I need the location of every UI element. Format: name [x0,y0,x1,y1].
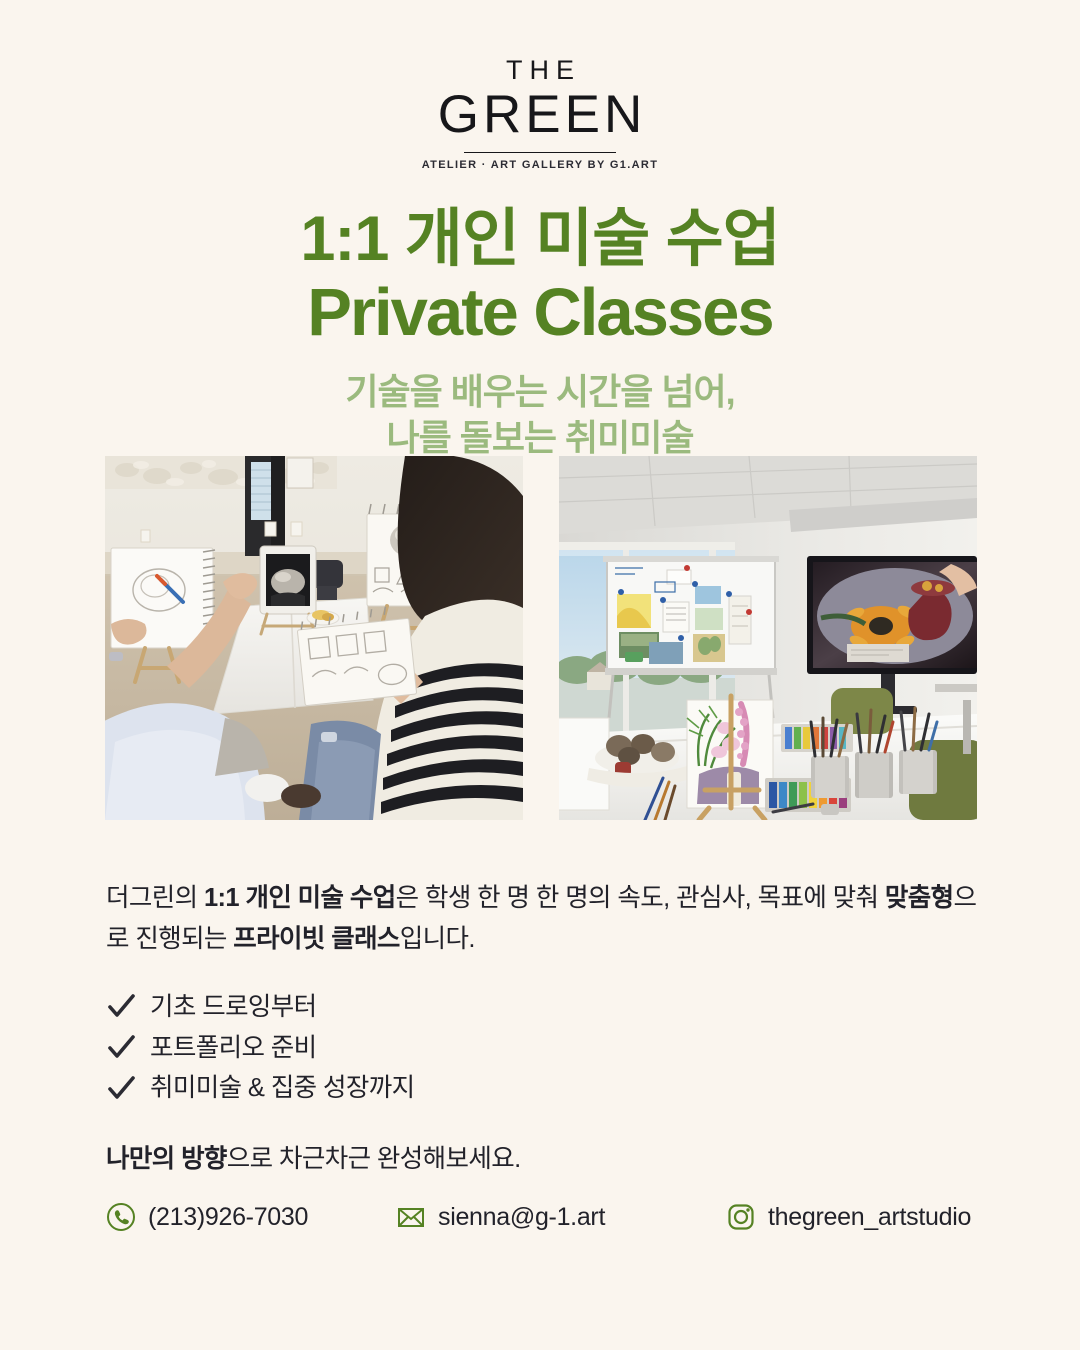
photo-gallery [105,456,977,820]
phone-icon [106,1202,136,1232]
headline-english: Private Classes [0,279,1080,347]
logo-line-green: GREEN [4,86,1080,144]
checklist-label: 포트폴리오 준비 [150,1033,317,1064]
logo-tagline: ATELIER · ART GALLERY BY G1.ART [0,159,1080,171]
contact-bar: (213)926-7030 sienna@g-1.art thegreen_ar… [106,1202,982,1232]
checklist-label: 취미미술 & 집중 성장까지 [150,1073,414,1104]
headline-korean: 1:1 개인 미술 수업 [0,207,1080,271]
list-item: 포트폴리오 준비 [106,1033,982,1064]
logo-divider [464,152,616,153]
feature-checklist: 기초 드로잉부터 포트폴리오 준비 취미미술 & 집중 성장까지 [106,992,982,1104]
contact-instagram[interactable]: thegreen_artstudio [726,1202,971,1232]
envelope-icon [396,1202,426,1232]
checklist-label: 기초 드로잉부터 [150,992,317,1023]
subtitle-line-1: 기술을 배우는 시간을 넘어, [0,369,1080,415]
page-title: 1:1 개인 미술 수업 Private Classes [0,207,1080,348]
intro-paragraph: 더그린의 1:1 개인 미술 수업은 학생 한 명 한 명의 속도, 관심사, … [106,878,982,961]
instagram-icon [726,1202,756,1232]
students-drawing-photo [105,456,523,820]
check-icon [106,1074,136,1104]
brand-logo: THE GREEN ATELIER · ART GALLERY BY G1.AR… [0,0,1080,171]
list-item: 기초 드로잉부터 [106,992,982,1023]
logo-line-the: THE [7,56,1080,84]
email-address: sienna@g-1.art [438,1205,605,1230]
list-item: 취미미술 & 집중 성장까지 [106,1073,982,1104]
page-subtitle: 기술을 배우는 시간을 넘어, 나를 돌보는 취미미술 [0,369,1080,461]
body-copy: 더그린의 1:1 개인 미술 수업은 학생 한 명 한 명의 속도, 관심사, … [106,852,982,1200]
closing-line: 나만의 방향으로 차근차근 완성해보세요. [106,1138,982,1175]
contact-phone[interactable]: (213)926-7030 [106,1202,396,1232]
check-icon [106,1033,136,1063]
contact-email[interactable]: sienna@g-1.art [396,1202,726,1232]
studio-interior-photo [559,456,977,820]
instagram-handle: thegreen_artstudio [768,1205,971,1230]
check-icon [106,992,136,1022]
subtitle-line-2: 나를 돌보는 취미미술 [0,415,1080,461]
phone-number: (213)926-7030 [148,1205,308,1230]
